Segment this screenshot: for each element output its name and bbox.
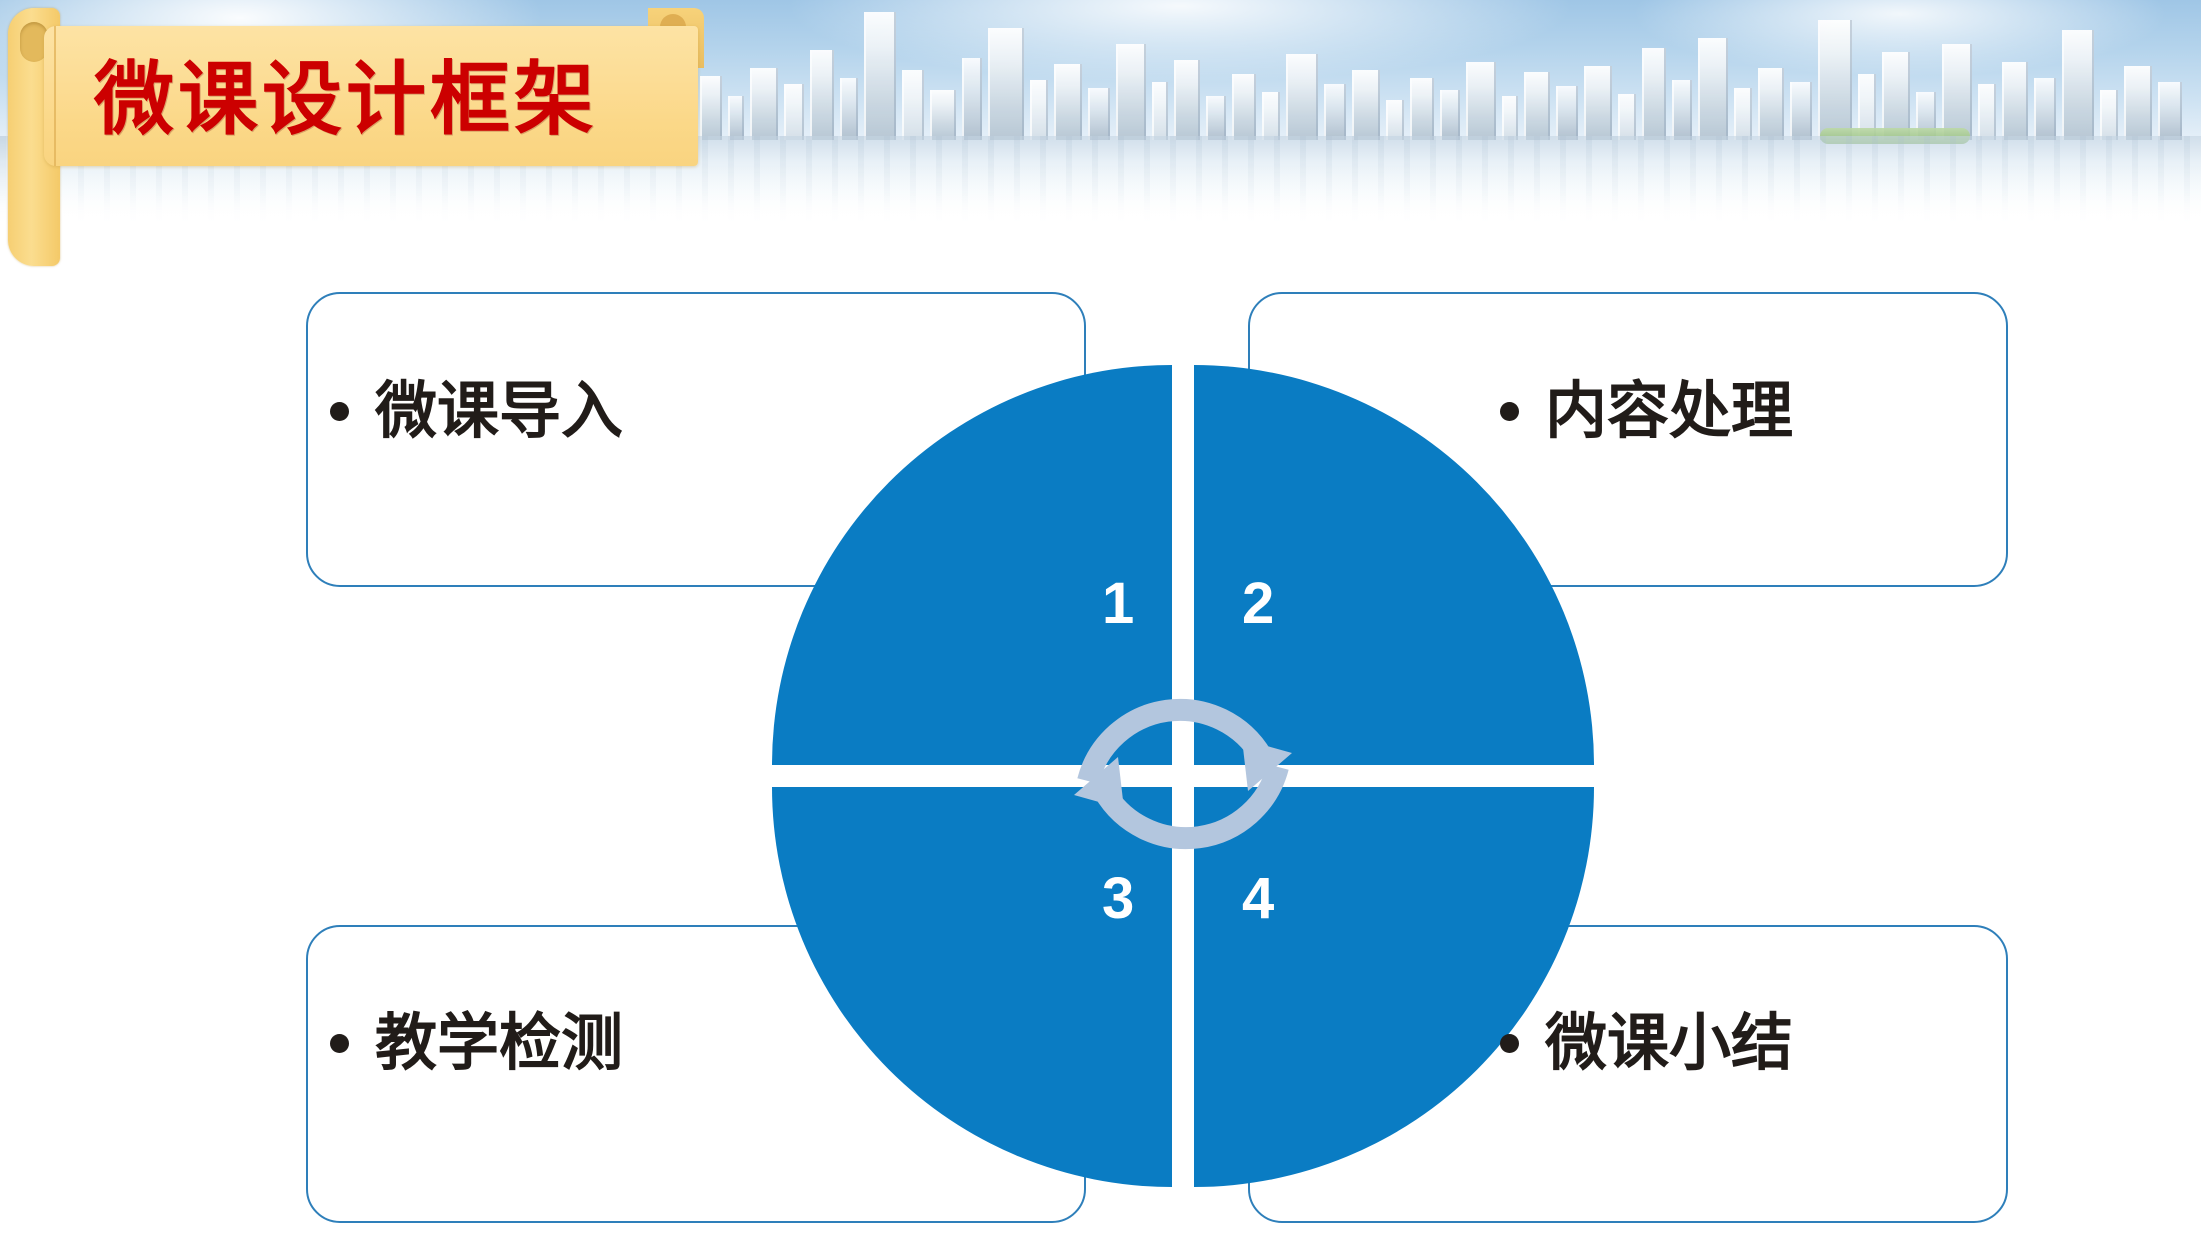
slide-canvas: 微课设计框架 1 2 3 4 微课导入 内容处理 教学检测 bbox=[0, 0, 2201, 1238]
label-text-top-right: 内容处理 bbox=[1545, 380, 1793, 442]
cycle-quadrant-4[interactable] bbox=[1194, 787, 1594, 1187]
page-title: 微课设计框架 bbox=[94, 50, 674, 148]
label-text-bottom-right: 微课小结 bbox=[1545, 1012, 1793, 1074]
quadrant-number-4: 4 bbox=[1242, 870, 1274, 928]
label-text-top-left: 微课导入 bbox=[375, 380, 623, 442]
label-text-bottom-left: 教学检测 bbox=[375, 1012, 623, 1074]
label-row-top-right: 内容处理 bbox=[1500, 380, 1793, 442]
cycle-quadrant-3[interactable] bbox=[772, 787, 1172, 1187]
cycle-quadrant-1[interactable] bbox=[772, 365, 1172, 765]
title-banner: 微课设计框架 bbox=[8, 8, 698, 266]
bullet-icon bbox=[1500, 1034, 1519, 1053]
quadrant-number-3: 3 bbox=[1102, 870, 1134, 928]
label-row-top-left: 微课导入 bbox=[330, 380, 623, 442]
bullet-icon bbox=[330, 1034, 349, 1053]
label-row-bottom-left: 教学检测 bbox=[330, 1012, 623, 1074]
quadrant-number-2: 2 bbox=[1242, 575, 1274, 633]
label-row-bottom-right: 微课小结 bbox=[1500, 1012, 1793, 1074]
quadrant-number-1: 1 bbox=[1102, 575, 1134, 633]
bullet-icon bbox=[330, 402, 349, 421]
cycle-diagram: 1 2 3 4 bbox=[772, 365, 1594, 1187]
bullet-icon bbox=[1500, 402, 1519, 421]
